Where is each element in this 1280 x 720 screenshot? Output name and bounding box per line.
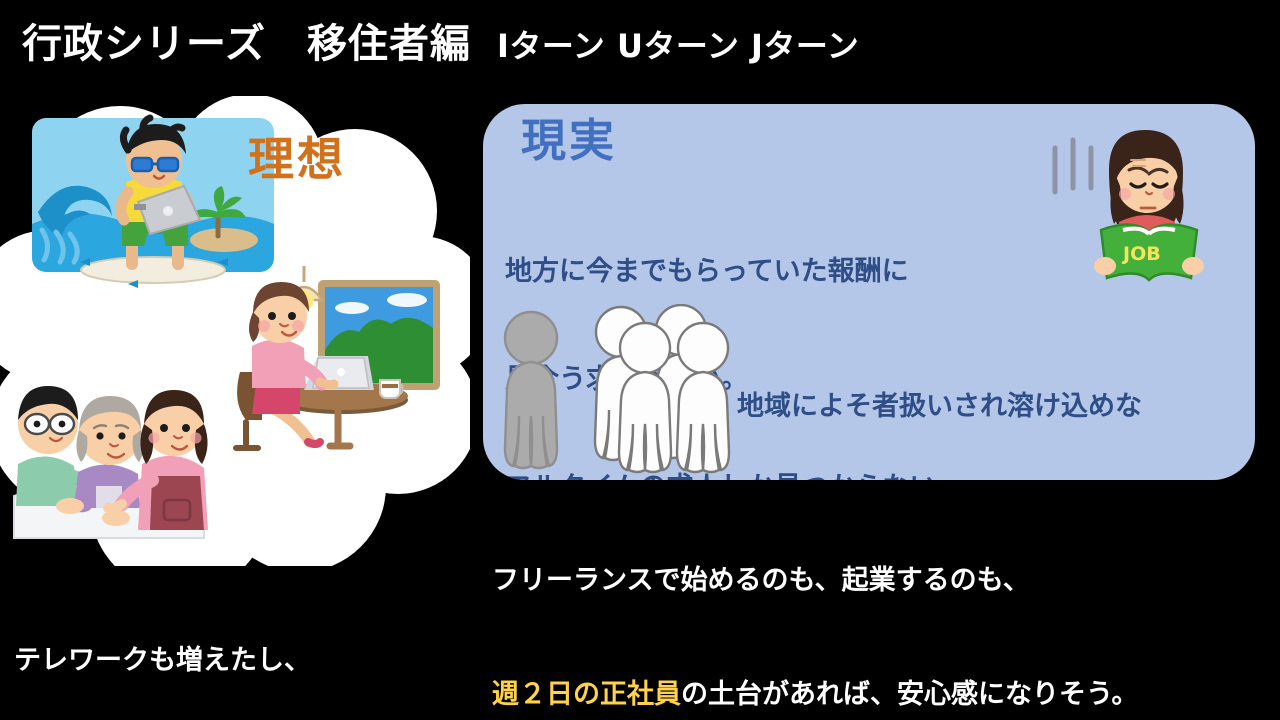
reality-panel: 現実 地方に今までもらっていた報酬に 見合う求人がない。 フルタイムの求人しか見… <box>483 104 1255 480</box>
conclusion-segment-highlight: 週２日の正社員 <box>492 679 681 710</box>
conclusion-segment: フリーランスで始めるのも、起業するのも、 <box>492 565 1030 596</box>
ideal-caption-line: テレワークも増えたし、 <box>14 642 484 679</box>
illustration-outsider-and-crowd <box>497 304 737 476</box>
conclusion-line: フリーランスで始めるのも、起業するのも、 <box>492 562 1280 600</box>
reality-title: 現実 <box>521 118 617 163</box>
ideal-caption: テレワークも増えたし、 離島や海が見える町仕事したい。 親の面倒見ながら仕事をし… <box>14 568 484 720</box>
slide-title-sub: Iターン Uターン Jターン <box>497 30 859 62</box>
conclusion-caption: フリーランスで始めるのも、起業するのも、 週２日の正社員の土台があれば、安心感に… <box>492 486 1280 720</box>
reality-text-line: 地方に今までもらっていた報酬に <box>505 254 963 290</box>
illustration-woman-at-desk <box>222 258 462 458</box>
conclusion-line: 週２日の正社員の土台があれば、安心感になりそう。 <box>492 676 1280 714</box>
slide-canvas: 行政シリーズ 移住者編 Iターン Uターン Jターン <box>0 0 1280 720</box>
ideal-label: 理想 <box>248 136 346 182</box>
conclusion-segment: の土台があれば、安心感になりそう。 <box>681 679 1138 710</box>
illustration-worried-woman-reading-job-magazine: JOB <box>1041 126 1221 286</box>
slide-title: 行政シリーズ 移住者編 Iターン Uターン Jターン <box>22 24 859 64</box>
illustration-family-caregiving <box>12 368 237 553</box>
reality-text-line: 地域によそ者扱いされ溶け込めな <box>737 388 1249 426</box>
reality-text-block-b: 地域によそ者扱いされ溶け込めな いので、都会でのスキルが活かせ ない。なかなか仕… <box>737 312 1249 480</box>
svg-text:JOB: JOB <box>1121 243 1161 265</box>
slide-title-main: 行政シリーズ 移住者編 <box>22 24 471 64</box>
